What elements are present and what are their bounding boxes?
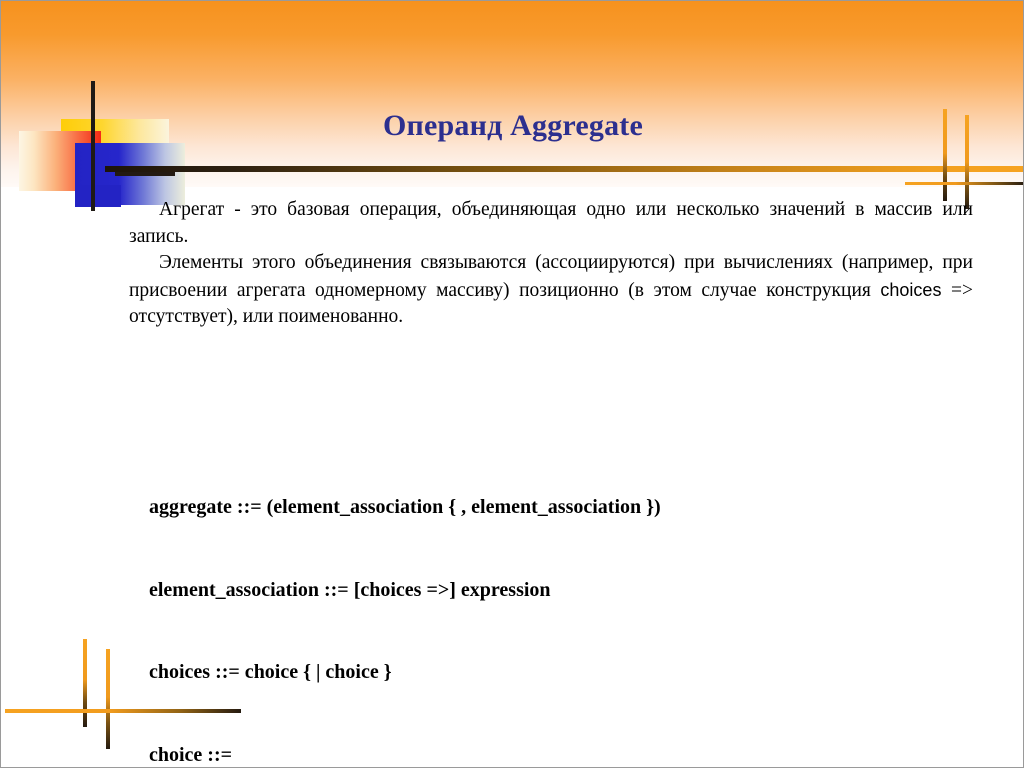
cross-vertical-line-1 bbox=[83, 639, 87, 727]
grammar-line: aggregate ::= (element_association { , e… bbox=[149, 494, 969, 522]
page-title: Операнд Aggregate bbox=[1, 109, 1024, 143]
title-divider-rule bbox=[105, 166, 1024, 172]
decorative-cross-bottom-left bbox=[61, 639, 301, 751]
slide-canvas: Операнд Aggregate Агрегат - это базовая … bbox=[0, 0, 1024, 768]
grammar-line: element_association ::= [choices =>] exp… bbox=[149, 577, 969, 605]
blue-rectangle-foot-icon bbox=[75, 185, 121, 207]
body-text-block: Агрегат - это базовая операция, объединя… bbox=[129, 197, 973, 331]
decorative-logo-block bbox=[19, 81, 194, 211]
vertical-bar-icon bbox=[91, 81, 95, 211]
cross-vertical-line-2 bbox=[106, 649, 110, 749]
decorative-cross-top-right bbox=[923, 109, 1024, 209]
inline-term-choices: choices bbox=[880, 280, 941, 300]
paragraph-association-part1: Элементы этого объединения связываются (… bbox=[129, 252, 973, 301]
cross-horizontal-line bbox=[905, 182, 1024, 185]
cross-horizontal-line bbox=[5, 709, 241, 713]
cross-vertical-line-2 bbox=[965, 115, 969, 209]
paragraph-definition: Агрегат - это базовая операция, объединя… bbox=[129, 197, 973, 250]
paragraph-association: Элементы этого объединения связываются (… bbox=[129, 250, 973, 331]
cross-vertical-line-1 bbox=[943, 109, 947, 201]
